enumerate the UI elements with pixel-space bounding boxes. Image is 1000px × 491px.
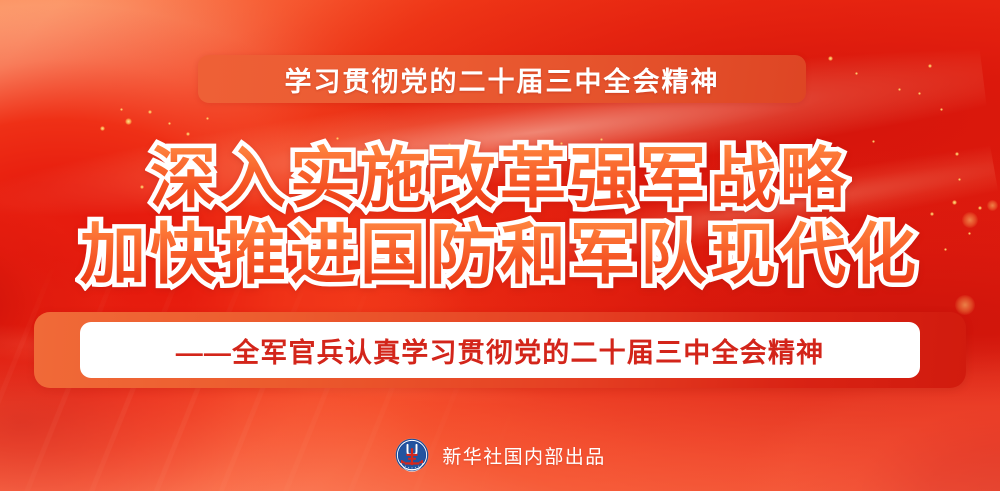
subtitle-inner-box: ——全军官兵认真学习贯彻党的二十届三中全会精神 (80, 322, 920, 378)
main-title: 深入实施改革强军战略 深入实施改革强军战略 深入实施改革强军战略 加快推进国防和… (0, 140, 1000, 292)
poster-canvas: 学习贯彻党的二十届三中全会精神 深入实施改革强军战略 深入实施改革强军战略 深入… (0, 0, 1000, 491)
main-title-line-2: 加快推进国防和军队现代化 加快推进国防和军队现代化 加快推进国防和军队现代化 (0, 216, 1000, 292)
subtitle-label: ——全军官兵认真学习贯彻党的二十届三中全会精神 (176, 331, 825, 370)
footer-label: 新华社国内部出品 (442, 442, 605, 469)
main-title-line-2-fill: 加快推进国防和军队现代化 (0, 216, 1000, 292)
main-title-line-1: 深入实施改革强军战略 深入实施改革强军战略 深入实施改革强军战略 (0, 140, 1000, 216)
subtitle-outer-box: ——全军官兵认真学习贯彻党的二十届三中全会精神 (34, 312, 966, 388)
top-banner: 学习贯彻党的二十届三中全会精神 (198, 55, 806, 103)
main-title-line-1-fill: 深入实施改革强军战略 (0, 140, 1000, 216)
xinhua-emblem-icon (394, 437, 430, 473)
top-banner-label: 学习贯彻党的二十届三中全会精神 (285, 60, 720, 99)
poster-content: 学习贯彻党的二十届三中全会精神 深入实施改革强军战略 深入实施改革强军战略 深入… (0, 0, 1000, 491)
footer: 新华社国内部出品 (0, 437, 1000, 473)
